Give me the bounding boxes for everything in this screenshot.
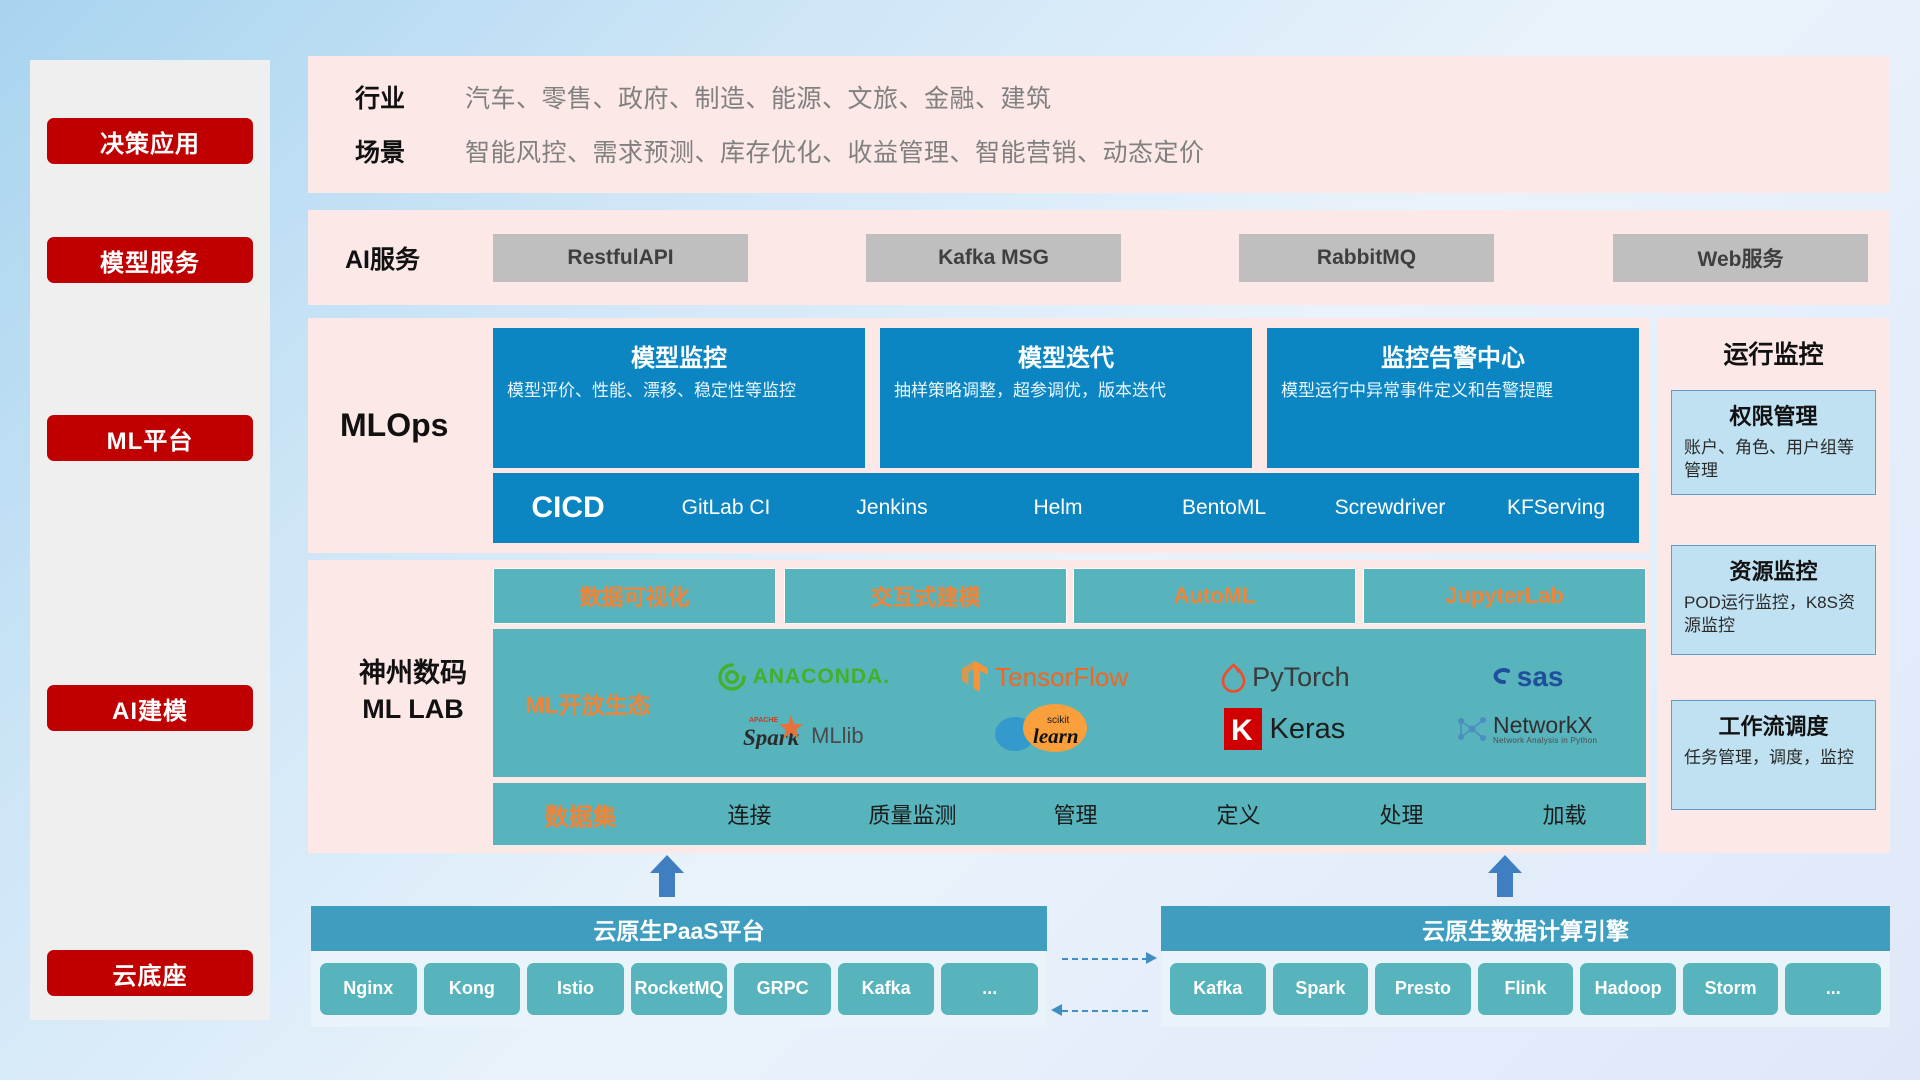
cicd-bar: CICD GitLab CI Jenkins Helm BentoML Scre… <box>493 473 1639 543</box>
pytorch-logo: PyTorch <box>1220 662 1350 693</box>
cicd-item-screwdriver[interactable]: Screwdriver <box>1307 495 1473 521</box>
diagram-canvas: 决策应用 模型服务 ML平台 AI建模 云底座 行业 汽车、零售、政府、制造、能… <box>0 0 1920 1080</box>
connector-left-arrow-head-icon <box>1051 1004 1062 1016</box>
scikit-learn-logo: scikit learn <box>989 703 1099 755</box>
sas-logo-text: sas <box>1517 661 1564 693</box>
dataset-item-define[interactable]: 定义 <box>1157 798 1320 830</box>
ai-service-rabbitmq[interactable]: RabbitMQ <box>1239 234 1494 282</box>
spark-mllib-logo: APACHE Spark MLlib <box>743 709 864 749</box>
paas-chip-row: Nginx Kong Istio RocketMQ GRPC Kafka ... <box>311 951 1047 1027</box>
dataset-item-manage[interactable]: 管理 <box>994 798 1157 830</box>
mllab-label-line2: ML LAB <box>328 691 498 727</box>
mlops-card-desc: 模型运行中异常事件定义和告警提醒 <box>1281 380 1625 403</box>
paas-chip-more[interactable]: ... <box>941 963 1038 1015</box>
dataset-item-process[interactable]: 处理 <box>1320 798 1483 830</box>
connector-left-arrow <box>1062 1010 1148 1012</box>
dataset-item-quality[interactable]: 质量监测 <box>831 798 994 830</box>
connector-right-arrow <box>1062 958 1148 960</box>
industry-row: 行业 汽车、零售、政府、制造、能源、文旅、金融、建筑 <box>355 75 1855 119</box>
mllab-tool-jupyterlab[interactable]: JupyterLab <box>1363 568 1646 624</box>
keras-logo-text: Keras <box>1269 713 1345 746</box>
cicd-item-helm[interactable]: Helm <box>975 495 1141 521</box>
rail-item-model-service[interactable]: 模型服务 <box>47 237 253 283</box>
svg-text:K: K <box>1231 714 1253 747</box>
ml-ecosystem-panel: ML开放生态 ANACONDA. TensorFlow <box>493 629 1646 777</box>
spark-mllib-text: MLlib <box>811 723 864 749</box>
mlops-card-title: 监控告警中心 <box>1281 338 1625 373</box>
ai-service-kafka-msg[interactable]: Kafka MSG <box>866 234 1121 282</box>
networkx-logo-text: NetworkX <box>1493 714 1597 737</box>
keras-logo: K Keras <box>1224 708 1345 750</box>
ai-service-restfulapi[interactable]: RestfulAPI <box>493 234 748 282</box>
engine-chip-more[interactable]: ... <box>1785 963 1881 1015</box>
dataset-row: 数据集 连接 质量监测 管理 定义 处理 加载 <box>493 783 1646 845</box>
paas-chip-rocketmq[interactable]: RocketMQ <box>631 963 728 1015</box>
monitor-card-desc: 任务管理，调度，监控 <box>1684 747 1863 770</box>
svg-text:learn: learn <box>1033 724 1079 748</box>
monitor-card-desc: 账户、角色、用户组等管理 <box>1684 437 1863 483</box>
engine-chip-presto[interactable]: Presto <box>1375 963 1471 1015</box>
rail-item-decision-app[interactable]: 决策应用 <box>47 118 253 164</box>
mlops-card-title: 模型监控 <box>507 338 851 373</box>
mlops-card-desc: 抽样策略调整，超参调优，版本迭代 <box>894 380 1238 403</box>
rail-item-ai-modeling[interactable]: AI建模 <box>47 685 253 731</box>
runtime-monitor-title: 运行监控 <box>1657 335 1890 371</box>
anaconda-logo: ANACONDA. <box>717 662 890 692</box>
monitor-card-permission[interactable]: 权限管理 账户、角色、用户组等管理 <box>1671 390 1876 495</box>
pytorch-logo-text: PyTorch <box>1252 662 1350 693</box>
mlops-label: MLOps <box>340 405 490 445</box>
cicd-item-gitlab-ci[interactable]: GitLab CI <box>643 495 809 521</box>
monitor-card-resource[interactable]: 资源监控 POD运行监控，K8S资源监控 <box>1671 545 1876 655</box>
monitor-card-title: 工作流调度 <box>1684 709 1863 741</box>
monitor-card-title: 资源监控 <box>1684 554 1863 586</box>
industry-value: 汽车、零售、政府、制造、能源、文旅、金融、建筑 <box>465 79 1052 115</box>
scenario-row: 场景 智能风控、需求预测、库存优化、收益管理、智能营销、动态定价 <box>355 129 1855 173</box>
anaconda-logo-text: ANACONDA. <box>753 665 890 689</box>
mllab-label: 神州数码 ML LAB <box>328 655 498 728</box>
engine-chip-hadoop[interactable]: Hadoop <box>1580 963 1676 1015</box>
paas-platform-header: 云原生PaaS平台 <box>311 906 1047 951</box>
dataset-label: 数据集 <box>493 797 668 832</box>
mllab-tool-automl[interactable]: AutoML <box>1073 568 1356 624</box>
monitor-card-workflow[interactable]: 工作流调度 任务管理，调度，监控 <box>1671 700 1876 810</box>
paas-chip-grpc[interactable]: GRPC <box>734 963 831 1015</box>
data-engine-header: 云原生数据计算引擎 <box>1161 906 1890 951</box>
cicd-label: CICD <box>493 491 643 525</box>
dataset-item-connect[interactable]: 连接 <box>668 798 831 830</box>
engine-chip-spark[interactable]: Spark <box>1273 963 1369 1015</box>
cicd-item-kfserving[interactable]: KFServing <box>1473 495 1639 521</box>
networkx-logo-tagline: Network Analysis in Python <box>1493 737 1597 745</box>
scenario-label: 场景 <box>355 133 465 169</box>
engine-chip-storm[interactable]: Storm <box>1683 963 1779 1015</box>
connector-right-arrow-head-icon <box>1146 952 1157 964</box>
mlops-card-desc: 模型评价、性能、漂移、稳定性等监控 <box>507 380 851 403</box>
monitor-card-desc: POD运行监控，K8S资源监控 <box>1684 592 1863 638</box>
paas-chip-kong[interactable]: Kong <box>424 963 521 1015</box>
engine-up-arrow-icon <box>1488 855 1522 901</box>
cicd-item-bentoml[interactable]: BentoML <box>1141 495 1307 521</box>
cicd-item-jenkins[interactable]: Jenkins <box>809 495 975 521</box>
scenario-value: 智能风控、需求预测、库存优化、收益管理、智能营销、动态定价 <box>465 133 1205 169</box>
ai-service-web[interactable]: Web服务 <box>1613 234 1868 282</box>
networkx-logo: NetworkX Network Analysis in Python <box>1454 713 1597 745</box>
mllab-label-line1: 神州数码 <box>328 655 498 691</box>
rail-item-cloud-base[interactable]: 云底座 <box>47 950 253 996</box>
mlops-card-alert-center[interactable]: 监控告警中心 模型运行中异常事件定义和告警提醒 <box>1267 328 1639 468</box>
engine-chip-row: Kafka Spark Presto Flink Hadoop Storm ..… <box>1161 951 1890 1027</box>
layer-rail: 决策应用 模型服务 ML平台 AI建模 云底座 <box>30 60 270 1020</box>
ml-ecosystem-label: ML开放生态 <box>493 686 683 720</box>
mlops-card-title: 模型迭代 <box>894 338 1238 373</box>
monitor-card-title: 权限管理 <box>1684 399 1863 431</box>
industry-label: 行业 <box>355 79 465 115</box>
engine-chip-flink[interactable]: Flink <box>1478 963 1574 1015</box>
mllab-tool-data-visualization[interactable]: 数据可视化 <box>493 568 776 624</box>
paas-chip-nginx[interactable]: Nginx <box>320 963 417 1015</box>
sas-logo: sas <box>1488 661 1564 693</box>
svg-text:APACHE: APACHE <box>749 717 778 724</box>
ml-ecosystem-logos: ANACONDA. TensorFlow PyTorch <box>683 651 1646 755</box>
ai-service-label: AI服务 <box>345 240 505 276</box>
mlops-card-model-iteration[interactable]: 模型迭代 抽样策略调整，超参调优，版本迭代 <box>880 328 1252 468</box>
paas-up-arrow-icon <box>650 855 684 901</box>
tensorflow-logo: TensorFlow <box>960 660 1128 694</box>
dataset-item-load[interactable]: 加载 <box>1483 798 1646 830</box>
paas-chip-istio[interactable]: Istio <box>527 963 624 1015</box>
mlops-card-model-monitoring[interactable]: 模型监控 模型评价、性能、漂移、稳定性等监控 <box>493 328 865 468</box>
tensorflow-logo-text: TensorFlow <box>995 662 1128 693</box>
rail-item-ml-platform[interactable]: ML平台 <box>47 415 253 461</box>
mllab-tool-interactive-modeling[interactable]: 交互式建模 <box>784 568 1067 624</box>
paas-chip-kafka[interactable]: Kafka <box>838 963 935 1015</box>
engine-chip-kafka[interactable]: Kafka <box>1170 963 1266 1015</box>
